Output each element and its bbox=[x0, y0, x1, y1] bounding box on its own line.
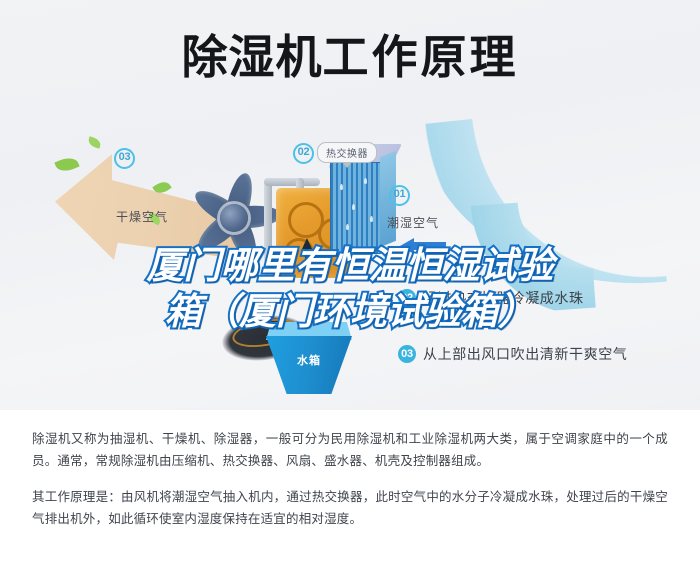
label-humid-air: 潮湿空气 bbox=[387, 214, 439, 231]
heat-exchanger-fins bbox=[330, 162, 382, 254]
overlay-headline-line1: 厦门哪里有恒温恒湿试验 bbox=[0, 243, 700, 289]
water-tank-label: 水箱 bbox=[266, 352, 352, 368]
leaf-icon bbox=[54, 154, 79, 174]
water-droplet-icon bbox=[364, 178, 367, 184]
paragraph-principle: 其工作原理是：由风机将潮湿空气抽入机内，通过热交换器，此时空气中的水分子冷凝成水… bbox=[32, 486, 668, 530]
water-droplet-icon bbox=[340, 184, 343, 190]
page-root: 除湿机工作原理 bbox=[0, 0, 700, 566]
water-droplet-icon bbox=[352, 204, 355, 210]
page-title-part2: 工作原理 bbox=[323, 30, 519, 84]
leaf-icon bbox=[87, 136, 102, 149]
badge-humid-air: 01 bbox=[389, 185, 410, 206]
step-outlet: 03 从上部出风口吹出清新干爽空气 bbox=[398, 344, 627, 364]
badge-dry-air: 03 bbox=[114, 148, 135, 169]
article-body: 除湿机又称为抽湿机、干燥机、除湿器，一般可分为民用除湿机和工业除湿机两大类，属于… bbox=[0, 410, 700, 566]
badge-heat-exchanger: 02 bbox=[293, 143, 314, 164]
water-droplet-icon bbox=[370, 216, 373, 222]
refrigerant-pipe bbox=[264, 178, 320, 186]
overlay-headline: 厦门哪里有恒温恒湿试验 箱（厦门环境试验箱） bbox=[0, 243, 700, 335]
water-droplet-icon bbox=[346, 224, 349, 230]
paragraph-definition: 除湿机又称为抽湿机、干燥机、除湿器，一般可分为民用除湿机和工业除湿机两大类，属于… bbox=[32, 428, 668, 472]
page-title-part1: 除湿机 bbox=[182, 30, 323, 84]
page-title: 除湿机工作原理 bbox=[0, 28, 700, 86]
step-outlet-text: 从上部出风口吹出清新干爽空气 bbox=[423, 344, 627, 364]
bubble-heat-exchanger: 热交换器 bbox=[317, 142, 377, 163]
label-dry-air: 干燥空气 bbox=[116, 208, 168, 225]
overlay-headline-line2: 箱（厦门环境试验箱） bbox=[0, 289, 700, 335]
fan-hub bbox=[220, 204, 248, 232]
hero-infographic: 除湿机工作原理 bbox=[0, 0, 700, 410]
badge-step-outlet: 03 bbox=[398, 345, 416, 363]
